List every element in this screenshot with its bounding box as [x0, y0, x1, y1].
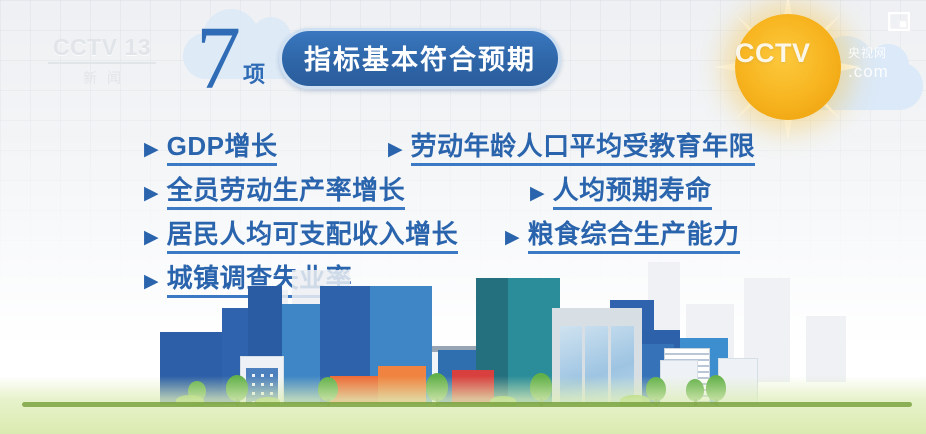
triangle-right-icon: ▶ [388, 140, 403, 159]
indicator-item: ▶居民人均可支配收入增长 [144, 220, 458, 254]
broadcast-graphic: CCTV 13 新闻 CCTV 央视网 .com 7 项 指标基本符合预期 ▶G… [0, 0, 926, 434]
cctv13-sub-text: 新闻 [48, 68, 156, 88]
ground-baseline [22, 402, 912, 407]
background-building [806, 316, 846, 382]
city-skyline-illustration [0, 259, 926, 434]
indicator-label: GDP增长 [167, 132, 278, 166]
cctv-com-watermark: CCTV 央视网 .com [735, 40, 911, 96]
cctv13-divider [48, 62, 156, 64]
headline-title-pill: 指标基本符合预期 [279, 28, 561, 89]
indicator-item: ▶粮食综合生产能力 [505, 220, 740, 254]
indicator-label: 人均预期寿命 [553, 176, 712, 210]
cctv13-channel-logo: CCTV 13 新闻 [48, 36, 156, 88]
triangle-right-icon: ▶ [144, 228, 159, 247]
indicator-count-unit: 项 [243, 57, 265, 89]
indicator-item: ▶人均预期寿命 [530, 176, 712, 210]
indicator-label: 劳动年龄人口平均受教育年限 [411, 132, 756, 166]
indicator-label: 粮食综合生产能力 [528, 220, 740, 254]
cctv13-mark-text: CCTV 13 [48, 36, 156, 59]
indicator-label: 全员劳动生产率增长 [167, 176, 406, 210]
indicator-item: ▶GDP增长 [144, 132, 277, 166]
headline-group: 7 项 指标基本符合预期 [196, 18, 561, 101]
triangle-right-icon: ▶ [144, 184, 159, 203]
triangle-right-icon: ▶ [505, 228, 520, 247]
triangle-right-icon: ▶ [144, 140, 159, 159]
picture-in-picture-icon[interactable] [888, 12, 910, 31]
indicator-count-number: 7 [196, 18, 239, 101]
triangle-right-icon: ▶ [530, 184, 545, 203]
indicator-item: ▶劳动年龄人口平均受教育年限 [388, 132, 755, 166]
watermark-com-text: .com [848, 62, 889, 82]
watermark-cn-text: 央视网 [848, 44, 887, 61]
indicator-item: ▶全员劳动生产率增长 [144, 176, 405, 210]
indicator-label: 居民人均可支配收入增长 [167, 220, 459, 254]
